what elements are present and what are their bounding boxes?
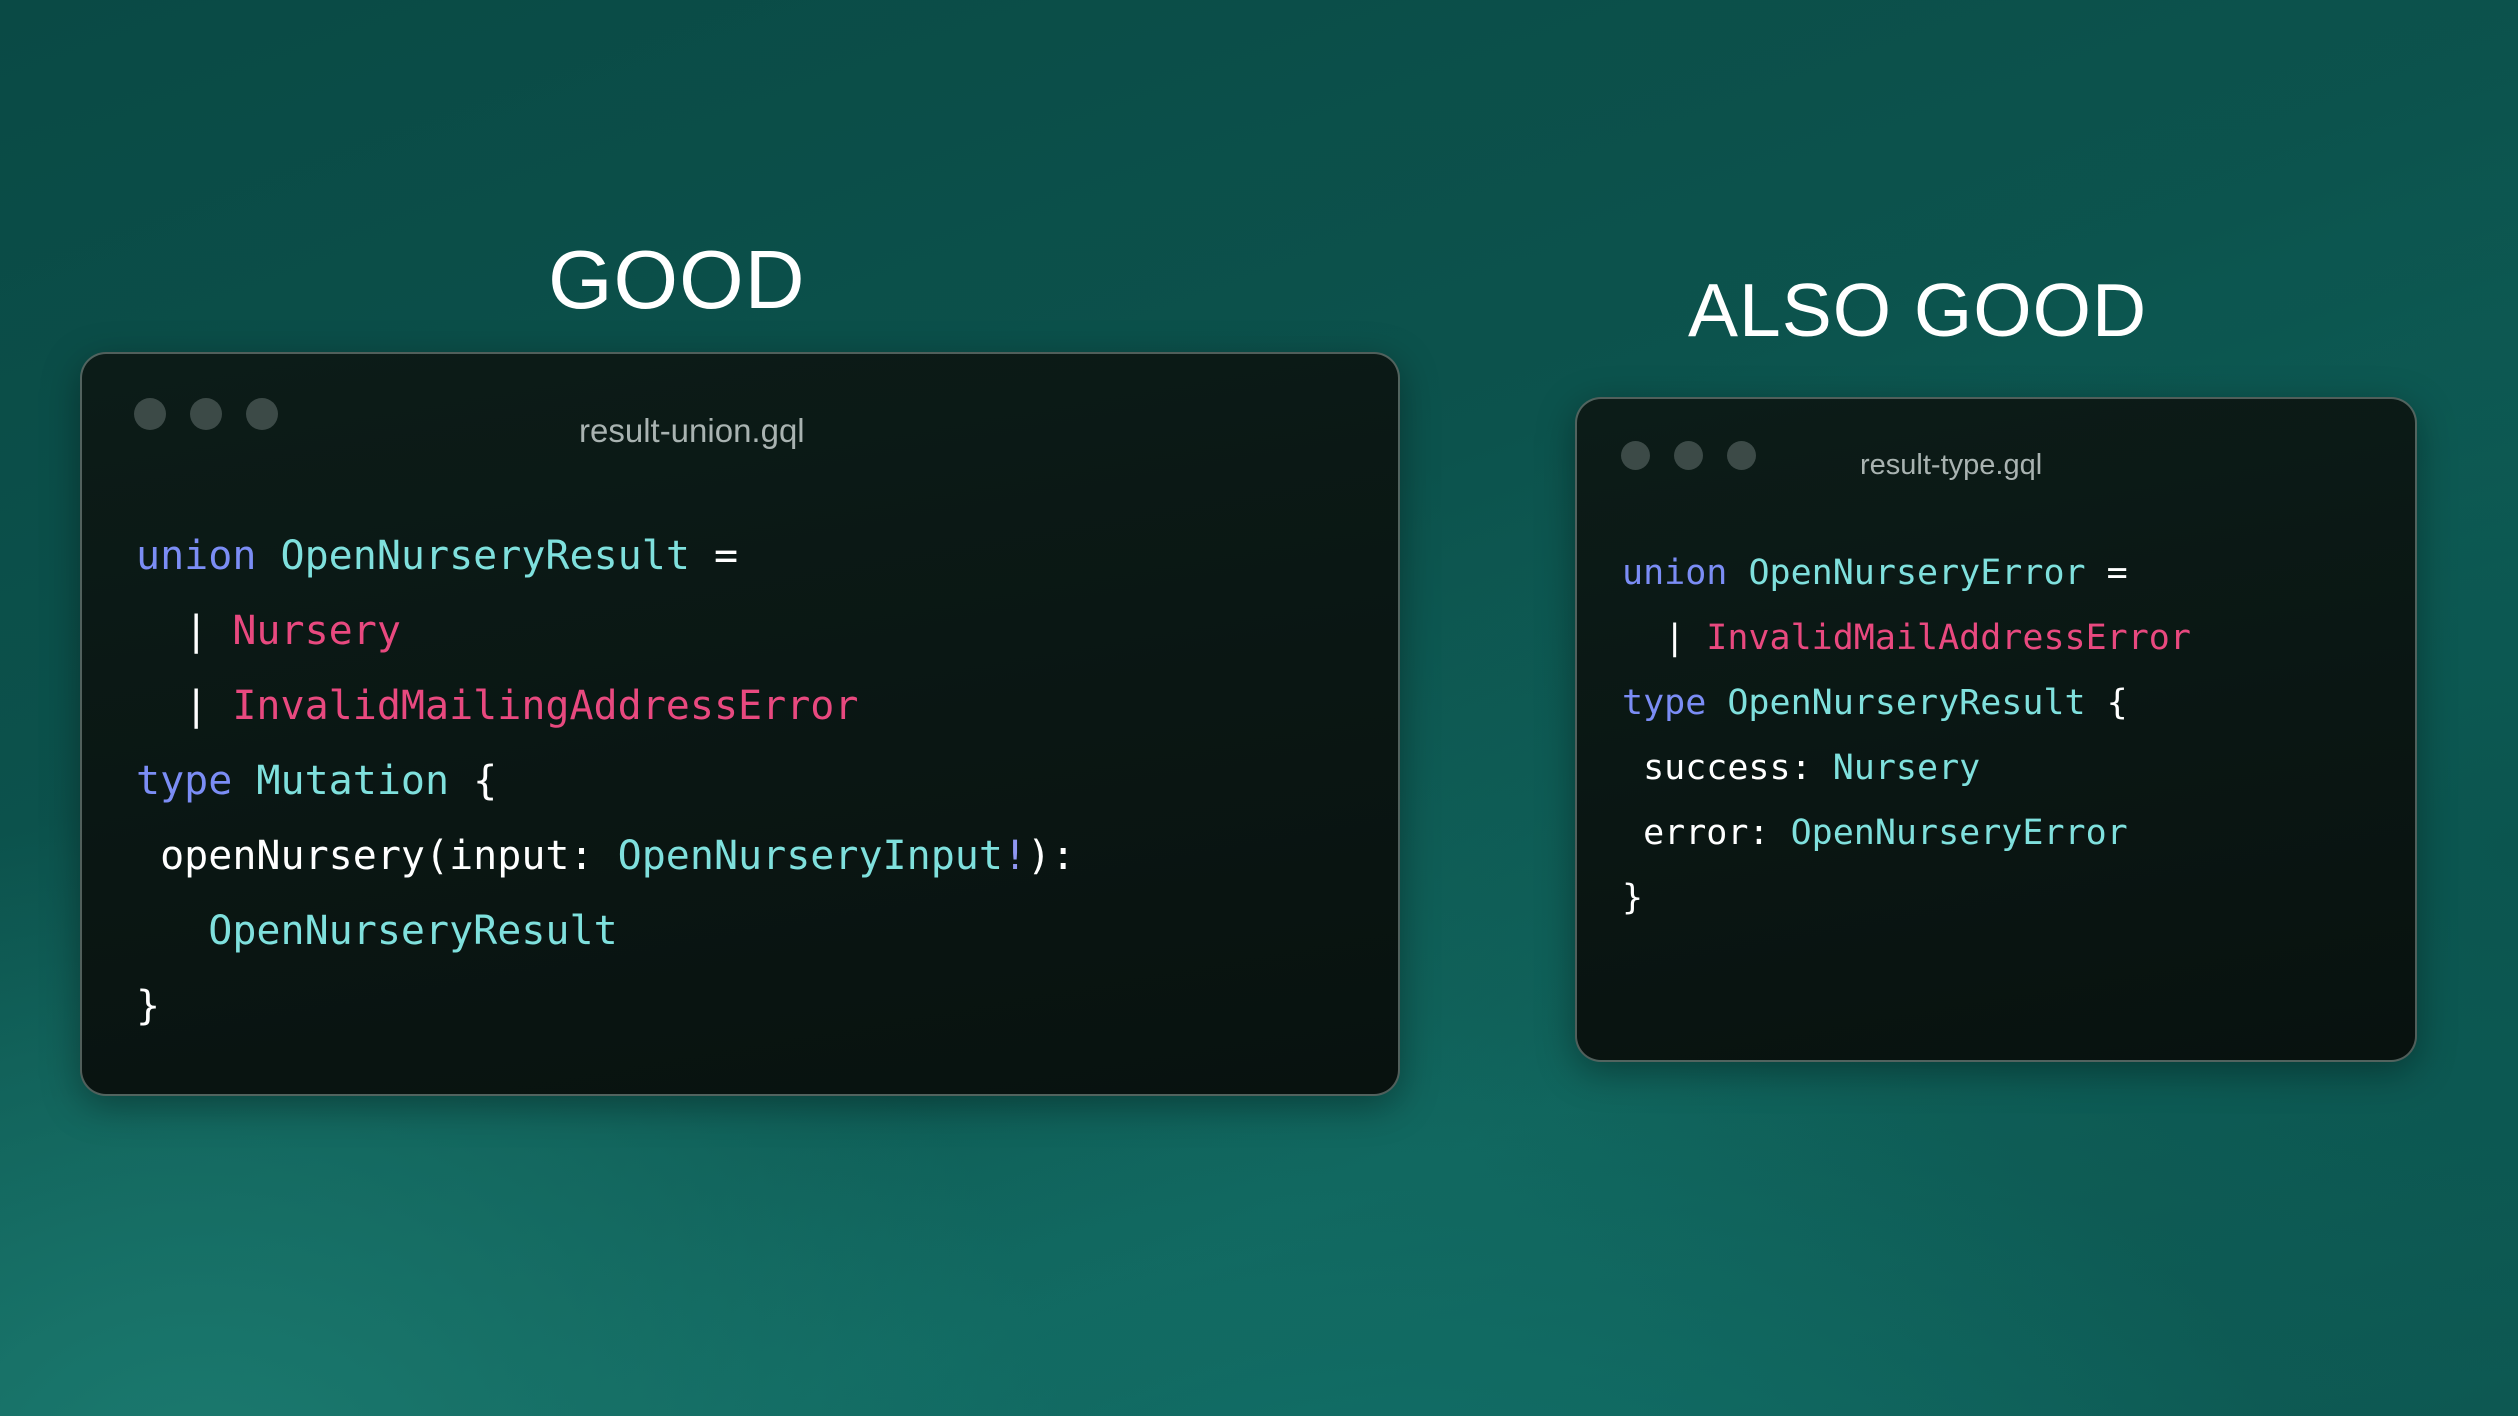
code-token: = — [2086, 553, 2128, 593]
code-token: type — [136, 758, 256, 804]
code-token: error: — [1622, 813, 1791, 853]
code-token: OpenNurseryInput — [618, 833, 1003, 879]
code-line: type OpenNurseryResult { — [1622, 671, 2191, 736]
minimize-dot-icon[interactable] — [1674, 441, 1703, 470]
code-block-good: union OpenNurseryResult = | Nursery | In… — [136, 519, 1075, 1044]
code-token: OpenNurseryError — [1791, 813, 2128, 853]
maximize-dot-icon[interactable] — [1727, 441, 1756, 470]
code-line: | InvalidMailingAddressError — [136, 669, 1075, 744]
window-traffic-lights — [134, 398, 278, 430]
filename-label-also-good: result-type.gql — [1860, 449, 2042, 482]
code-token: union — [136, 533, 281, 579]
code-token: ): — [1027, 833, 1075, 879]
heading-also-good: ALSO GOOD — [1688, 273, 2147, 348]
code-line: OpenNurseryResult — [136, 894, 1075, 969]
code-token: { — [449, 758, 497, 804]
window-traffic-lights — [1621, 441, 1756, 470]
code-token: ! — [1003, 833, 1027, 879]
code-token: OpenNurseryResult — [208, 908, 617, 954]
code-token — [136, 908, 208, 954]
code-line: | Nursery — [136, 594, 1075, 669]
code-token: type — [1622, 683, 1727, 723]
close-dot-icon[interactable] — [134, 398, 166, 430]
code-token: success: — [1622, 748, 1833, 788]
code-line: } — [1622, 866, 2191, 931]
heading-good: GOOD — [548, 238, 806, 321]
maximize-dot-icon[interactable] — [246, 398, 278, 430]
code-token: = — [690, 533, 738, 579]
code-token: Nursery — [232, 608, 401, 654]
code-token: OpenNurseryResult — [1727, 683, 2085, 723]
code-token: | — [136, 608, 232, 654]
slide-stage: GOOD result-union.gql union OpenNurseryR… — [0, 0, 2518, 1416]
code-line: type Mutation { — [136, 744, 1075, 819]
code-line: union OpenNurseryResult = — [136, 519, 1075, 594]
code-token: InvalidMailAddressError — [1706, 618, 2191, 658]
code-line: } — [136, 969, 1075, 1044]
close-dot-icon[interactable] — [1621, 441, 1650, 470]
code-block-also-good: union OpenNurseryError = | InvalidMailAd… — [1622, 541, 2191, 931]
code-token: union — [1622, 553, 1748, 593]
code-token: InvalidMailingAddressError — [232, 683, 858, 729]
code-token: OpenNurseryResult — [281, 533, 690, 579]
code-token: openNursery(input: — [136, 833, 618, 879]
code-token: Mutation — [256, 758, 449, 804]
code-line: openNursery(input: OpenNurseryInput!): — [136, 819, 1075, 894]
code-token: { — [2086, 683, 2128, 723]
code-token: } — [1622, 878, 1643, 918]
code-token: Nursery — [1833, 748, 1981, 788]
code-line: success: Nursery — [1622, 736, 2191, 801]
code-token: } — [136, 983, 160, 1029]
code-line: | InvalidMailAddressError — [1622, 606, 2191, 671]
code-line: union OpenNurseryError = — [1622, 541, 2191, 606]
code-token: OpenNurseryError — [1748, 553, 2085, 593]
code-token: | — [136, 683, 232, 729]
minimize-dot-icon[interactable] — [190, 398, 222, 430]
code-line: error: OpenNurseryError — [1622, 801, 2191, 866]
code-token: | — [1622, 618, 1706, 658]
